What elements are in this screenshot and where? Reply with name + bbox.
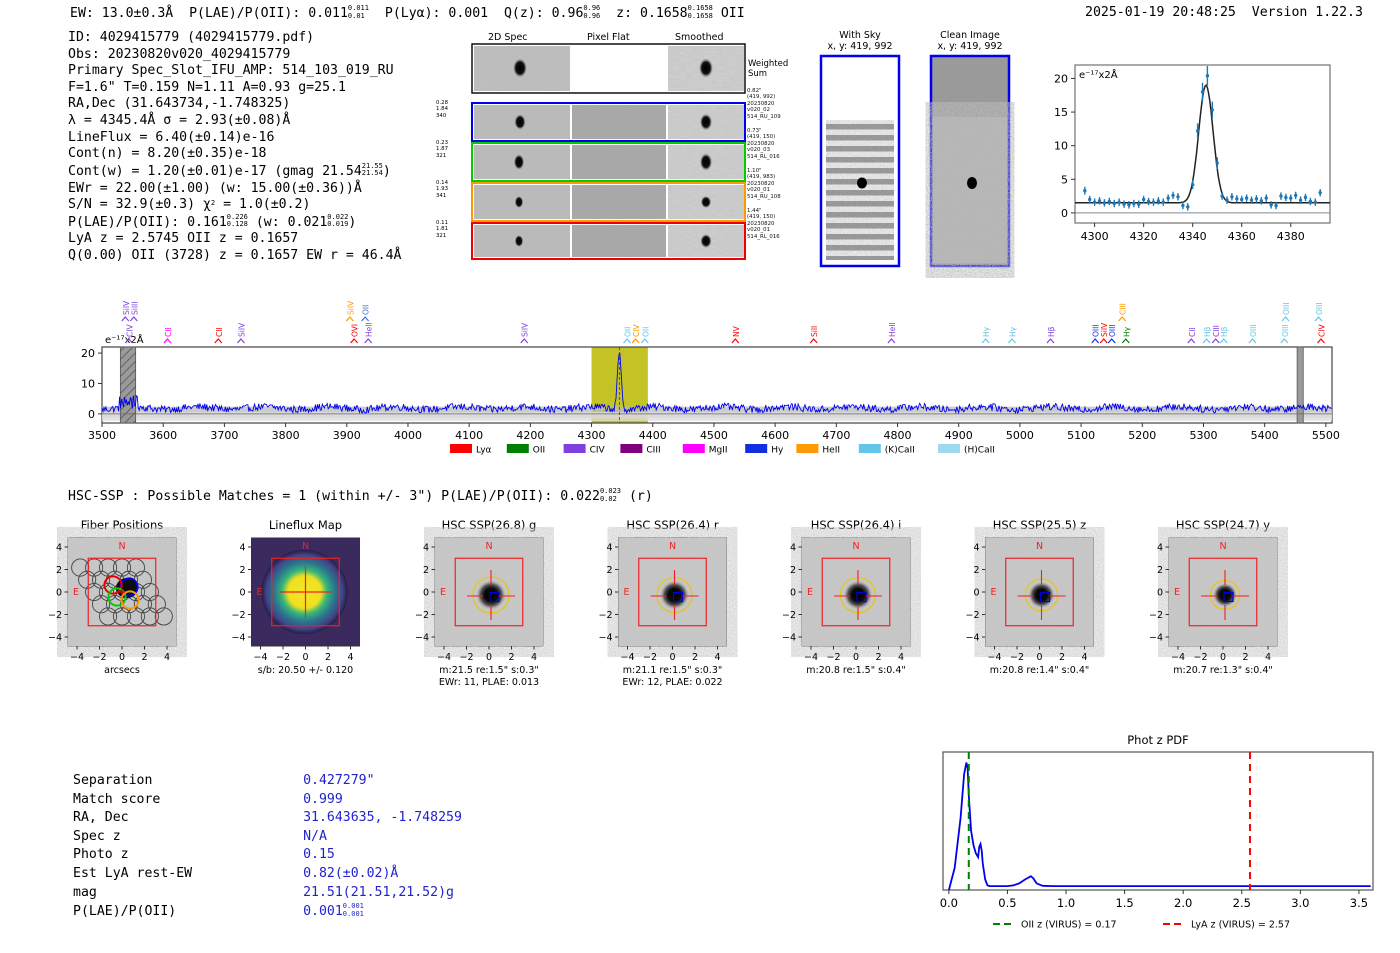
compass-e: E [256,587,262,598]
cutout-with-sky: With Sky x, y: 419, 992 [820,30,900,267]
fs-line-label: Hβ [1220,326,1229,337]
hsc-xtick: 2 [875,652,881,663]
spec2d-right-labels-2: 1.10" (419, 983) 20230820 v020_01 514_RU… [747,168,781,200]
fs-masked-band [120,347,135,423]
fs-line-label: CIV [125,324,134,337]
hsc-xtick: 4 [347,652,353,663]
hsc-xtick: −2 [643,652,657,663]
hsc-ytick: 0 [1157,588,1163,599]
fs-ytick: 0 [88,408,95,421]
fs-ytick: 20 [81,347,95,360]
compass-e: E [73,587,79,598]
info-cont-w-pre: Cont(w) = 1.20(±0.01)e-17 (gmag 21.54 [68,164,362,179]
fs-line-label: CII [215,327,224,337]
match-row-value: 0.427279" [302,772,463,791]
hsc-heading-sub: 0.02 [600,495,617,503]
clean-image-graphic [930,55,1010,267]
hsc-panel-xlabel: s/b: 20.50 +/- 0.120 [258,665,353,676]
with-sky-subtitle: x, y: 419, 992 [820,41,900,52]
hsc-panel: Fiber PositionsNE−4−4−2−2002244arcsecs [48,518,176,676]
spec2d-row [472,143,745,181]
hsc-ytick: 0 [973,588,979,599]
fs-line-label: Hβ [1203,326,1212,337]
info-radec: RA,Dec (31.643734,-1.748325) [68,96,401,113]
match-row-label: Separation [72,772,302,791]
hsc-panel: HSC SSP(25.5) zNE−4−4−2−2002244m:20.8 re… [965,518,1093,676]
hsc-ytick: 4 [56,543,62,554]
hsc-xtick: −4 [804,652,818,663]
fs-line-label: CII [164,327,173,337]
compass-n: N [1219,541,1226,552]
lp-xtick: 4320 [1130,230,1158,243]
hsc-xtick: 4 [898,652,904,663]
compass-e: E [807,587,813,598]
fs-xtick: 5500 [1312,429,1340,442]
lp-xtick: 4300 [1081,230,1109,243]
hsc-ytick: −2 [782,610,796,621]
spectrum-legend-label: (K)CaII [885,446,915,456]
header-z-sub: 0.1658 [688,12,713,20]
hsc-panel-title: Fiber Positions [81,518,164,532]
pz-title: Phot z PDF [1127,733,1189,747]
spec2d-right-labels-0: 0.82" (419, 992) 20230820 v020_02 514_RU… [747,88,781,120]
fs-line-label: OVI [351,324,360,337]
fs-xtick: 3800 [272,429,300,442]
hsc-heading: HSC-SSP : Possible Matches = 1 (within +… [68,488,653,504]
row1-right-4: 514_RL_016 [747,154,780,160]
line-profile-svg: 0510152043004320434043604380e⁻¹⁷x2Å [1035,45,1340,270]
spec2d-title-2dspec: 2D Spec [488,32,528,43]
hsc-ytick: 4 [1157,543,1163,554]
pz-xtick: 3.5 [1350,896,1368,910]
match-row-label: P(LAE)/P(OII) [72,902,302,922]
fs-line-label: OIII [1108,324,1117,337]
fs-line-label: Hβ [1047,326,1056,337]
spectrum-legend-item: (K)CaII [859,444,915,456]
hsc-panel-row: Fiber PositionsNE−4−4−2−2002244arcsecsLi… [40,512,1385,727]
info-lineflux: LineFlux = 6.40(±0.14)e-16 [68,130,401,147]
row3-right-4: 514_RL_016 [747,234,780,240]
hsc-panel-title: HSC SSP(24.7) y [1176,518,1270,532]
hsc-panel: HSC SSP(24.7) yNE−4−4−2−2002244m:20.7 re… [1149,518,1277,676]
hsc-ytick: 0 [606,588,612,599]
match-table-row: Match score0.999 [72,791,463,810]
row3-right-1: (419, 150) [747,214,780,220]
spec2d-left-labels-3: 0.11 1.81 321 [436,220,448,239]
fs-line-label: OIII [1249,324,1258,337]
fs-line-label: NV [732,325,741,337]
fs-annotation: e⁻¹⁷x2Å [105,333,144,346]
match-row-value: 21.51(21.51,21.52)g [302,884,463,903]
info-lambda: λ = 4345.4Å σ = 2.93(±0.08)Å [68,113,401,130]
pz-legend-item: OII z (VIRUS) = 0.17 [993,920,1117,931]
spectrum-legend-item: Hy [745,444,784,456]
info-id: ID: 4029415779 (4029415779.pdf) [68,30,401,47]
lp-ytick: 10 [1054,140,1068,153]
hsc-ytick: 4 [790,543,796,554]
hsc-ytick: −2 [965,610,979,621]
hsc-panel: HSC SSP(26.4) rNE−4−4−2−2002244m:21.1 re… [598,518,726,688]
hsc-xtick: −4 [620,652,634,663]
hsc-panel-xlabel: m:20.8 re:1.5" s:0.4" [806,665,906,676]
hsc-panel-title: HSC SSP(25.5) z [993,518,1086,532]
match-row-label: Spec z [72,828,302,847]
hsc-xtick: −2 [459,652,473,663]
fs-line-label: CIV [632,324,641,337]
row2-left-1: 1.93 [436,186,448,192]
pz-xtick: 2.5 [1233,896,1251,910]
match-row-value: 0.82(±0.02)Å [302,865,463,884]
spectrum-legend-item: Lyα [450,444,492,456]
hsc-xtick: 0 [669,652,675,663]
hsc-ytick: −2 [48,610,62,621]
spec2d-right-labels-1: 0.73" (419, 150) 20230820 v020_03 514_RL… [747,128,780,160]
spec2d-title-smoothed: Smoothed [675,32,724,43]
fs-line-label: Hγ [1008,326,1017,337]
fs-line-label: Hγ [1122,326,1131,337]
fs-spectrum-trace [102,354,1332,414]
hsc-xtick: 2 [141,652,147,663]
with-sky-image [820,55,900,267]
match-table-row: Spec zN/A [72,828,463,847]
spectrum-legend-item: MgII [683,444,728,456]
row0-left-2: 340 [436,113,448,119]
spectrum-legend-label: Lyα [476,446,492,456]
spectrum-legend-item: HeII [796,444,840,456]
hsc-xtick: −2 [1010,652,1024,663]
spectrum-legend-item: CIV [564,444,606,456]
hsc-xtick: 4 [1081,652,1087,663]
pz-xtick: 2.0 [1174,896,1192,910]
match-row-value-main: 0.001 [303,904,343,919]
lp-annotation: e⁻¹⁷x2Å [1079,68,1118,81]
info-plae-mid: (w: 0.021 [256,215,327,230]
hsc-ytick: −4 [782,633,796,644]
spectrum-legend-label: (H)CaII [964,446,995,456]
header-summary: EW: 13.0±0.3Å P(LAE)/P(OII): 0.0110.0110… [70,5,745,21]
lp-xtick: 4360 [1228,230,1256,243]
phot-z-pdf-svg: Phot z PDF0.00.51.01.52.02.53.03.5OII z … [925,730,1390,945]
hsc-panel-caption2: EWr: 11, PLAE: 0.013 [439,677,539,688]
line-profile-plot: 0510152043004320434043604380e⁻¹⁷x2Å [1035,45,1340,270]
spec2d-row [472,223,745,259]
match-row-label: RA, Dec [72,809,302,828]
hsc-xtick: −2 [1193,652,1207,663]
spectrum-legend-item: OII [507,444,545,456]
fs-line-label: CII [1188,327,1197,337]
hsc-panel: HSC SSP(26.4) iNE−4−4−2−2002244m:20.8 re… [782,518,910,676]
match-table-row: Photo z0.15 [72,846,463,865]
header-qz-sub: 0.96 [583,12,600,20]
fs-line-label: SiIV [346,300,355,315]
row3-left-1: 1.81 [436,226,448,232]
fs-line-label: CIV [1317,324,1326,337]
fs-line-label: SiIV [521,322,530,337]
hsc-panel-xlabel: m:21.1 re:1.5" s:0.3" [623,665,723,676]
hsc-xtick: 4 [531,652,537,663]
hsc-ytick: −4 [48,633,62,644]
info-q-line: Q(0.00) OII (3728) z = 0.1657 EW r = 46.… [68,248,401,265]
spectrum-legend-svg: LyαOIICIVCIIIMgIIHyHeII(K)CaII(H)CaII [450,441,970,457]
spectrum-legend-item: CIII [620,444,660,456]
header-z-species: OII [721,6,745,21]
hsc-panel-title: HSC SSP(26.4) r [626,518,718,532]
clean-image-title: Clean Image [930,30,1010,41]
hsc-ytick: 2 [239,565,245,576]
fs-line-label: OIII [1281,324,1290,337]
fs-xtick: 5400 [1251,429,1279,442]
compass-n: N [669,541,676,552]
hsc-xtick: 2 [692,652,698,663]
hsc-xtick: −2 [92,652,106,663]
header-plae: P(LAE)/P(OII): 0.011 [189,6,348,21]
hsc-panel-title: HSC SSP(26.8) g [442,518,537,532]
header-timestamp-block: 2025-01-19 20:48:25 Version 1.22.3 [1085,5,1363,20]
fs-line-label: OII [362,305,371,315]
compass-n: N [485,541,492,552]
spec2d-left-labels-1: 0.23 1.87 321 [436,140,448,159]
info-cont-w-post: ) [383,164,391,179]
info-sn-post: = 1.0(±0.2) [215,197,310,212]
hsc-xtick: 4 [164,652,170,663]
lp-ytick: 0 [1061,207,1068,220]
fs-masked-band [1297,347,1303,423]
info-sn: S/N = 32.9(±0.3) χ2 = 1.0(±0.2) [68,197,401,214]
hsc-xtick: 2 [508,652,514,663]
hsc-heading-post: (r) [629,489,653,504]
hsc-ytick: −4 [1149,633,1163,644]
header-z: z: 0.1658 [616,6,687,21]
fs-xtick: 5300 [1189,429,1217,442]
match-table-row: RA, Dec31.643635, -1.748259 [72,809,463,828]
hsc-xtick: 0 [1220,652,1226,663]
fs-xtick: 3900 [333,429,361,442]
hsc-xtick: 2 [1242,652,1248,663]
row3-left-2: 321 [436,233,448,239]
match-table: Separation0.427279"Match score0.999RA, D… [72,772,463,922]
compass-e: E [440,587,446,598]
fs-line-label: HeII [365,322,374,337]
hsc-ytick: 2 [1157,565,1163,576]
fs-ytick: 10 [81,377,95,390]
info-block: ID: 4029415779 (4029415779.pdf) Obs: 202… [68,30,401,265]
spec2d-row [472,103,745,141]
fs-xtick: 5000 [1006,429,1034,442]
pz-xtick: 0.0 [940,896,958,910]
spec2d-left-labels-0: 0.28 1.84 340 [436,100,448,119]
match-row-label: Est LyA rest-EW [72,865,302,884]
pz-xtick: 1.0 [1057,896,1075,910]
info-obs: Obs: 20230820v020_4029415779 [68,47,401,64]
hsc-ytick: −4 [598,633,612,644]
weighted-sum-label-2: Sum [748,69,767,79]
match-row-label: Match score [72,791,302,810]
row1-left-2: 321 [436,153,448,159]
cutout-clean-image: Clean Image x, y: 419, 992 [930,30,1010,267]
fs-xtick: 5100 [1067,429,1095,442]
fs-line-label: SiIII [130,302,139,315]
fs-line-markers: SiIVCIVSiIIICIICIISiIVSiIVOVIOIIHeIISiIV… [122,300,1327,343]
info-plae-sub2: 0.019 [327,220,348,228]
match-row-value: 0.0010.0010.001 [302,902,463,922]
info-plae: P(LAE)/P(OII): 0.1610.2260.128 (w: 0.021… [68,214,401,232]
hsc-xtick: −2 [276,652,290,663]
hsc-ytick: 4 [423,543,429,554]
spec2d-weighted-sum-row [472,44,745,93]
spectrum-legend-label: CIV [590,446,606,456]
pz-legend-label: LyA z (VIRUS) = 2.57 [1191,920,1290,931]
match-row-value-sub: 0.001 [343,910,364,918]
hsc-panel-xlabel: m:20.7 re:1.3" s:0.4" [1173,665,1273,676]
lp-ytick: 5 [1061,173,1068,186]
hsc-ytick: 2 [790,565,796,576]
header-qz: Q(z): 0.96 [504,6,583,21]
lp-ytick: 20 [1054,72,1068,85]
hsc-ytick: 4 [973,543,979,554]
compass-n: N [118,541,125,552]
header-version: Version 1.22.3 [1252,5,1363,20]
pz-xtick: 0.5 [998,896,1016,910]
fs-line-label: OIII [1315,302,1324,315]
compass-n: N [852,541,859,552]
hsc-ytick: −2 [598,610,612,621]
info-ewr: EWr = 22.00(±1.00) (w: 15.00(±0.36))Å [68,181,401,198]
info-cont-n: Cont(n) = 8.20(±0.35)e-18 [68,146,401,163]
header-timestamp: 2025-01-19 20:48:25 [1085,5,1236,20]
info-plae-pre: P(LAE)/P(OII): 0.161 [68,215,227,230]
spec2d-left-labels-2: 0.14 1.93 341 [436,180,448,199]
pz-frame [943,752,1373,890]
hsc-ytick: 4 [239,543,245,554]
fs-xtick: 4000 [394,429,422,442]
hsc-panel-xlabel: arcsecs [104,665,140,676]
hsc-xtick: 4 [1265,652,1271,663]
fs-line-label: SiII [810,326,819,337]
lp-xtick: 4380 [1277,230,1305,243]
spec2d-right-labels-3: 1.44" (419, 150) 20230820 v020_01 514_RL… [747,208,780,240]
lp-ytick: 15 [1054,106,1068,119]
compass-e: E [990,587,996,598]
row2-left-2: 341 [436,193,448,199]
hsc-xtick: 4 [714,652,720,663]
compass-e: E [1174,587,1180,598]
header-ew: EW: 13.0±0.3Å [70,6,173,21]
hsc-panel-title: Lineflux Map [269,518,342,532]
match-table-row: Separation0.427279" [72,772,463,791]
hsc-xtick: 0 [486,652,492,663]
row0-right-4: 514_RU_109 [747,114,781,120]
hsc-panel-caption2: EWr: 12, PLAE: 0.022 [622,677,722,688]
row0-left-1: 1.84 [436,106,448,112]
spectrum-legend-label: MgII [709,446,728,456]
fs-xtick: 3700 [210,429,238,442]
pz-legend-label: OII z (VIRUS) = 0.17 [1021,920,1117,931]
hsc-ytick: 2 [973,565,979,576]
hsc-ytick: 2 [606,565,612,576]
info-z-line: LyA z = 2.5745 OII z = 0.1657 [68,231,401,248]
hsc-ytick: −2 [415,610,429,621]
row2-right-4: 514_RU_108 [747,194,781,200]
match-table-row: mag21.51(21.51,21.52)g [72,884,463,903]
hsc-ytick: −4 [415,633,429,644]
hsc-xtick: 2 [325,652,331,663]
fs-xtick: 3500 [88,429,116,442]
hsc-panel-xlabel: m:21.5 re:1.5" s:0.3" [439,665,539,676]
hsc-ytick: −4 [231,633,245,644]
info-sn-pre: S/N = 32.9(±0.3) χ [68,197,211,212]
compass-n: N [1036,541,1043,552]
spec2d-title-pixelflat: Pixel Flat [587,32,630,43]
header-plae-sub: 0.01 [348,12,365,20]
spectrum-legend-label: OII [533,446,545,456]
fs-line-label: OIII [1282,302,1291,315]
compass-e: E [623,587,629,598]
match-row-value: 0.15 [302,846,463,865]
hsc-panel-title: HSC SSP(26.4) i [811,518,902,532]
header-plya: P(Lyα): 0.001 [385,6,488,21]
info-plae-sub: 0.128 [227,220,248,228]
hsc-ytick: 2 [423,565,429,576]
row1-left-1: 1.87 [436,146,448,152]
hsc-ytick: 4 [606,543,612,554]
match-row-value: N/A [302,828,463,847]
hsc-panel: Lineflux MapNE−4−4−2−2002244s/b: 20.50 +… [231,518,359,676]
weighted-sum-label-1: Weighted [748,59,788,69]
spectrum-legend-item: (H)CaII [938,444,995,456]
fs-line-label: SiIV [237,322,246,337]
hsc-xtick: 2 [1059,652,1065,663]
match-row-value: 31.643635, -1.748259 [302,809,463,828]
fs-xtick: 3600 [149,429,177,442]
hsc-ytick: −2 [1149,610,1163,621]
info-plae-post: ) [348,215,356,230]
hsc-panel: HSC SSP(26.8) gNE−4−4−2−2002244m:21.5 re… [415,518,543,688]
spec2d-row [472,183,745,221]
phot-z-pdf-panel: Phot z PDF0.00.51.01.52.02.53.03.5OII z … [925,730,1390,945]
match-row-label: mag [72,884,302,903]
hsc-xtick: −4 [987,652,1001,663]
row1-right-1: (419, 150) [747,134,780,140]
hsc-ytick: −2 [231,610,245,621]
hsc-ytick: −4 [965,633,979,644]
match-table-grid: Separation0.427279"Match score0.999RA, D… [72,772,463,922]
hsc-xtick: 0 [1036,652,1042,663]
hsc-xtick: 0 [302,652,308,663]
info-cont-w-sub: 21.54 [362,169,383,177]
hsc-ytick: 2 [56,565,62,576]
spectrum-legend: LyαOIICIVCIIIMgIIHyHeII(K)CaII(H)CaII [450,441,970,457]
hsc-heading-pre: HSC-SSP : Possible Matches = 1 (within +… [68,489,600,504]
info-fitn: F=1.6" T=0.159 N=1.11 A=0.93 g=25.1 [68,80,401,97]
match-table-row: Est LyA rest-EW0.82(±0.02)Å [72,865,463,884]
fs-xtick: 5200 [1128,429,1156,442]
match-row-value: 0.999 [302,791,463,810]
fs-line-label: HeII [888,322,897,337]
clean-image-subtitle: x, y: 419, 992 [930,41,1010,52]
compass-n: N [302,541,309,552]
hsc-ytick: 0 [239,588,245,599]
match-table-row: P(LAE)/P(OII)0.0010.0010.001 [72,902,463,922]
spectrum-legend-label: CIII [646,446,660,456]
hsc-ytick: 0 [423,588,429,599]
spectrum-legend-label: HeII [822,446,840,456]
hsc-ytick: 0 [790,588,796,599]
pz-xtick: 3.0 [1291,896,1309,910]
hsc-ytick: 0 [56,588,62,599]
hsc-xtick: −4 [253,652,267,663]
hsc-xtick: −4 [70,652,84,663]
match-row-label: Photo z [72,846,302,865]
